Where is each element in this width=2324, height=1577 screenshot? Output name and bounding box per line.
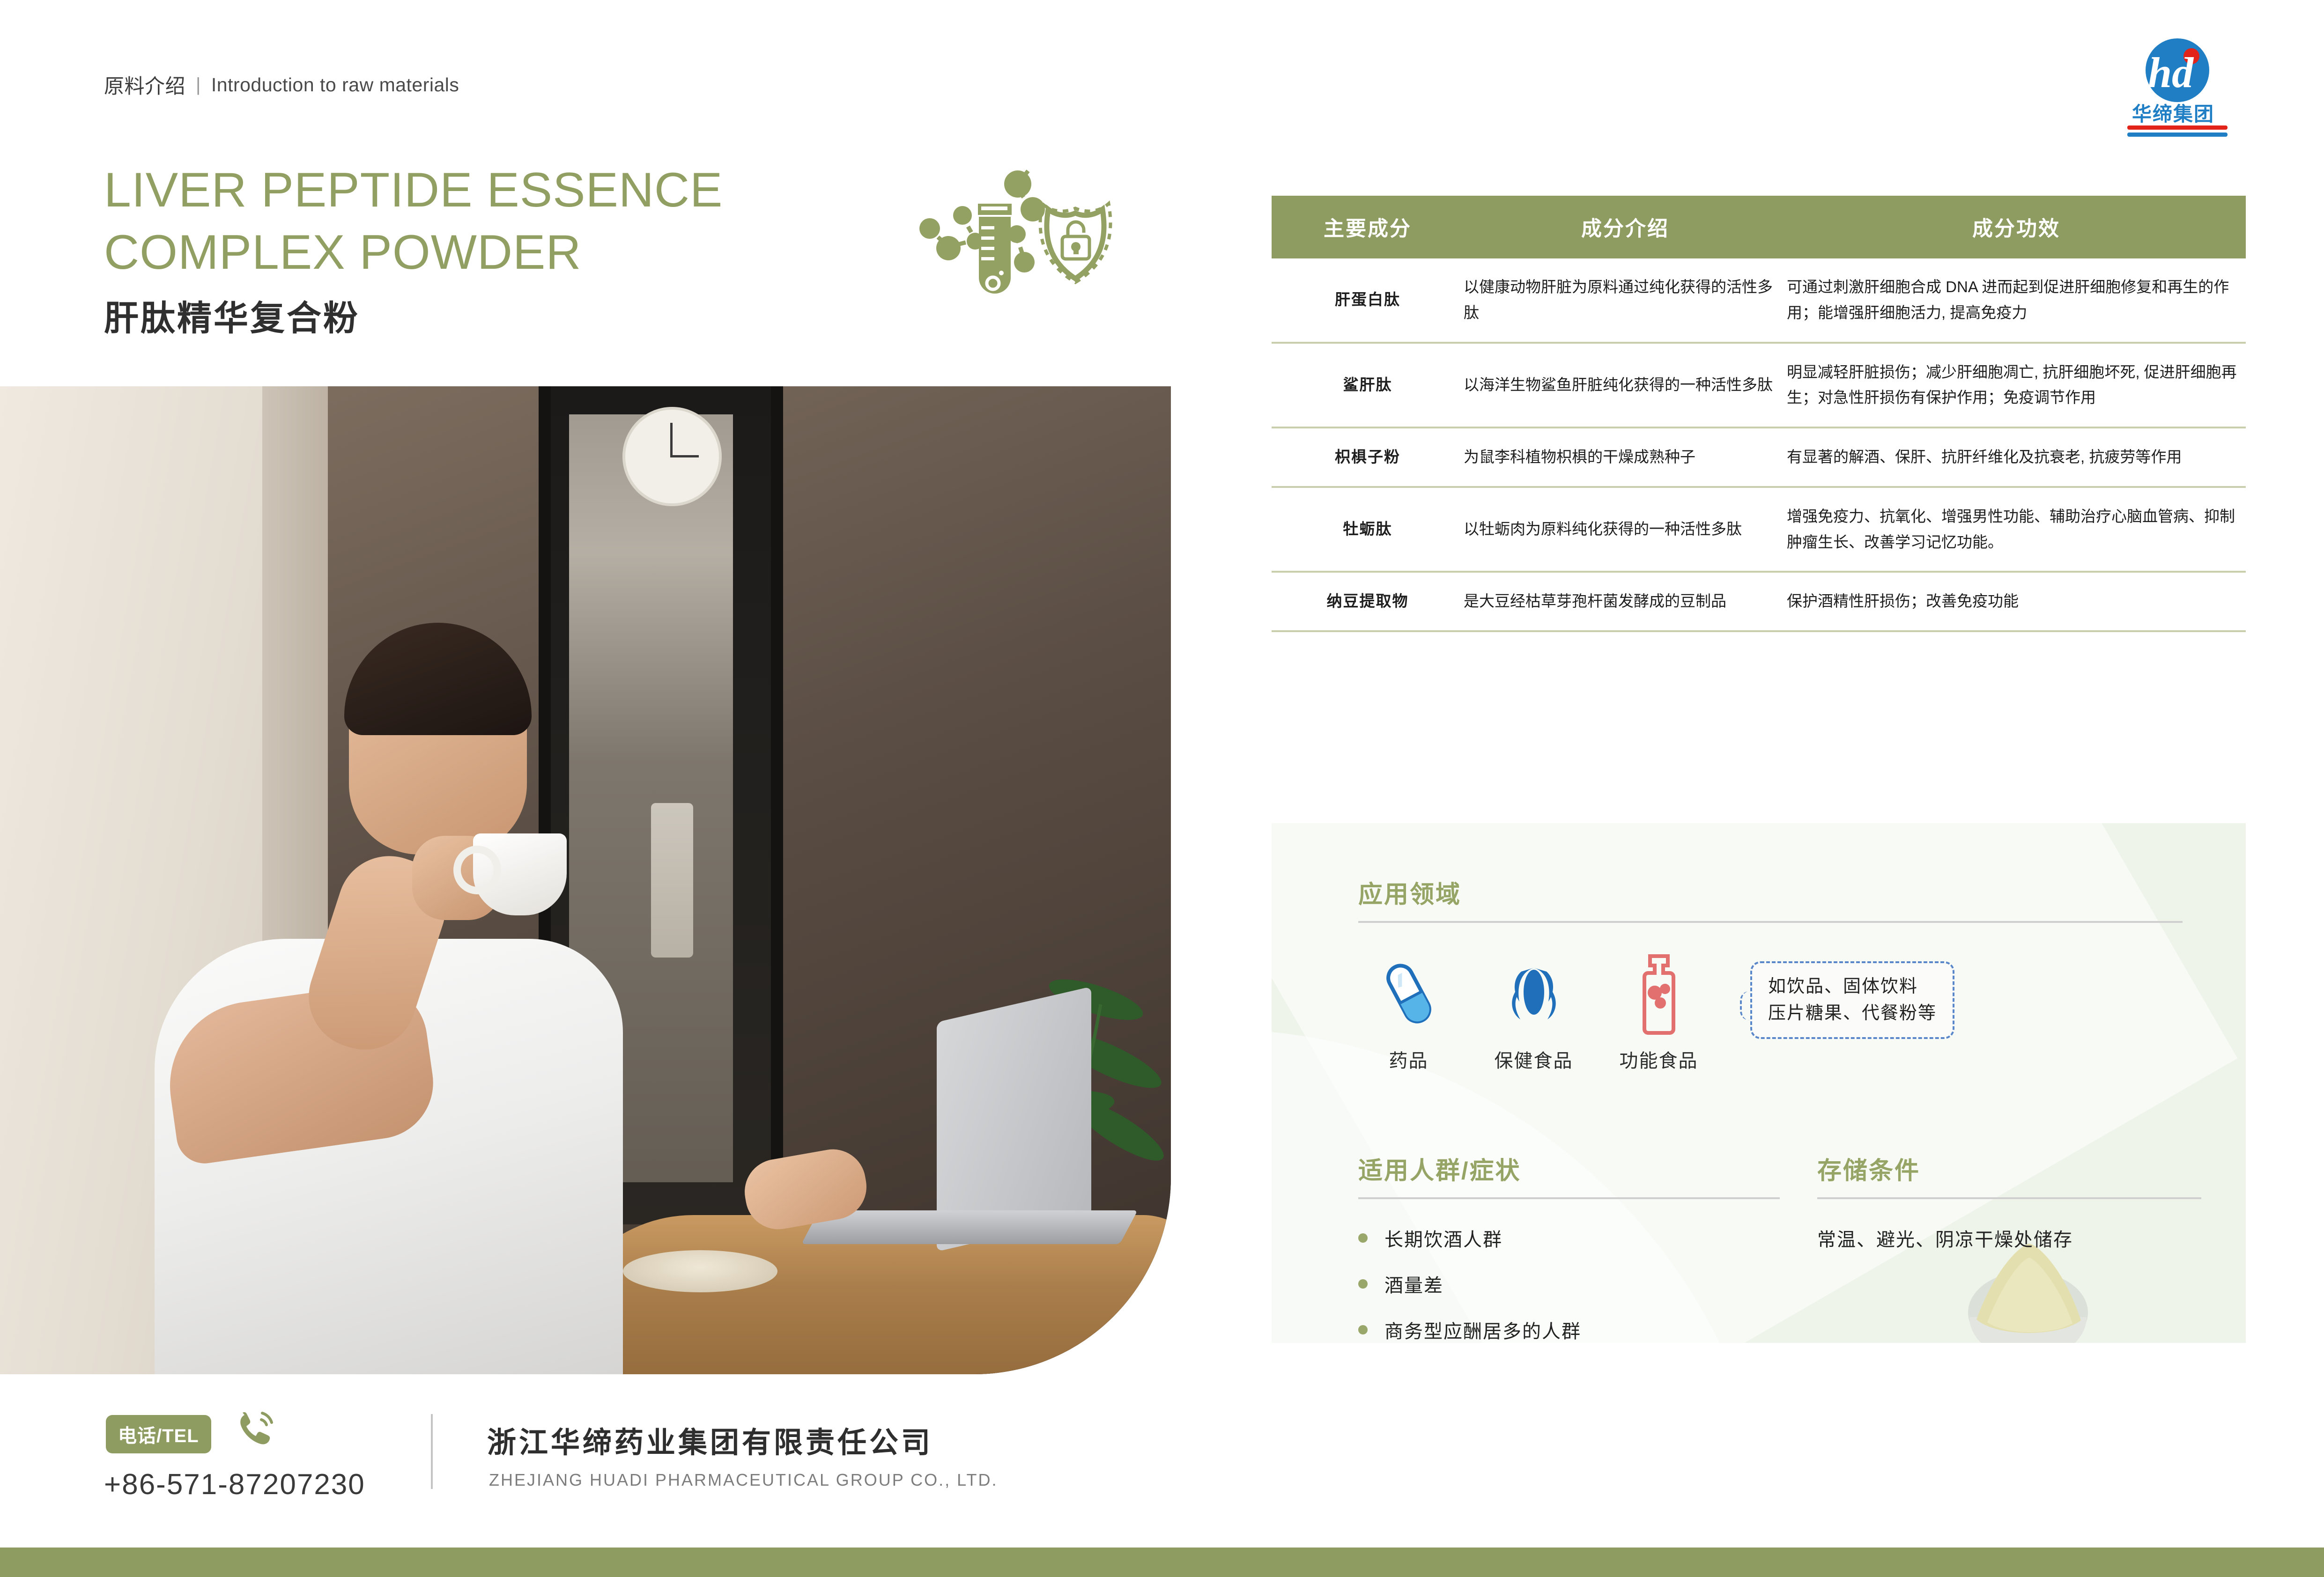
ingredient-table: 主要成分 成分介绍 成分功效 肝蛋白肽 以健康动物肝脏为原料通过纯化获得的活性多… <box>1272 196 2246 632</box>
application-note-line2: 压片糖果、代餐粉等 <box>1768 1000 1937 1027</box>
cell-ingredient-effect: 保护酒精性肝损伤；改善免疫功能 <box>1787 572 2246 631</box>
application-section-title: 应用领域 <box>1358 875 2183 910</box>
storage-section-title: 存储条件 <box>1817 1151 2201 1186</box>
page-title-line1: LIVER PEPTIDE ESSENCE <box>104 159 723 221</box>
vial-icon <box>1608 954 1709 1033</box>
suitable-item-label: 酒量差 <box>1384 1270 1443 1297</box>
cell-ingredient-effect: 有显著的解酒、保肝、抗肝纤维化及抗衰老, 抗疲劳等作用 <box>1787 427 2246 487</box>
capsule-icon <box>1358 954 1459 1033</box>
application-section: 应用领域 药品 <box>1358 875 2183 1073</box>
cell-ingredient-name: 肝蛋白肽 <box>1272 258 1464 343</box>
wall-clock <box>625 410 719 503</box>
page-title-english: LIVER PEPTIDE ESSENCE COMPLEX POWDER <box>104 159 723 284</box>
bullet-dot-icon <box>1358 1279 1368 1289</box>
table-header-effect: 成分功效 <box>1787 196 2246 258</box>
footer: 电话/TEL +86-571-87207230 浙江华缔药业集团有限责任公司 Z… <box>0 1386 2324 1526</box>
footer-divider <box>431 1414 433 1489</box>
cell-ingredient-desc: 是大豆经枯草芽孢杆菌发酵成的豆制品 <box>1464 572 1787 631</box>
coffee-cup <box>473 833 567 915</box>
page-title-chinese: 肝肽精华复合粉 <box>104 290 360 340</box>
breadcrumb: 原料介绍 | Introduction to raw materials <box>104 70 459 99</box>
logo-monogram-text: hd <box>2148 49 2194 96</box>
bullet-dot-icon <box>1358 1325 1368 1334</box>
suitable-section: 适用人群/症状 长期饮酒人群 酒量差 商务型应酬居多的人群 <box>1358 1151 1780 1343</box>
cell-ingredient-desc: 以健康动物肝脏为原料通过纯化获得的活性多肽 <box>1464 258 1787 343</box>
table-row: 牡蛎肽 以牡蛎肉为原料纯化获得的一种活性多肽 增强免疫力、抗氧化、增强男性功能、… <box>1272 487 2246 572</box>
storage-section: 存储条件 常温、避光、阴凉干燥处储存 <box>1817 1151 2201 1343</box>
application-item-health-food: 保健食品 <box>1483 954 1584 1073</box>
storage-divider <box>1817 1197 2201 1199</box>
application-label: 功能食品 <box>1608 1046 1709 1073</box>
page-title-line2: COMPLEX POWDER <box>104 221 723 284</box>
storage-text: 常温、避光、阴凉干燥处储存 <box>1817 1224 2201 1252</box>
tel-number[interactable]: +86-571-87207230 <box>104 1468 365 1501</box>
cell-ingredient-name: 纳豆提取物 <box>1272 572 1464 631</box>
tel-badge: 电话/TEL <box>106 1415 211 1453</box>
application-item-functional-food: 功能食品 <box>1608 954 1709 1073</box>
list-item: 酒量差 <box>1358 1270 1780 1297</box>
hero-photo: 示意图 <box>0 386 1171 1374</box>
company-logo: hd 华缔集团 <box>2114 37 2241 139</box>
table-header-row: 主要成分 成分介绍 成分功效 <box>1272 196 2246 258</box>
info-panel: 应用领域 药品 <box>1272 823 2246 1343</box>
table-header-ingredient: 主要成分 <box>1272 196 1464 258</box>
table-row: 肝蛋白肽 以健康动物肝脏为原料通过纯化获得的活性多肽 可通过刺激肝细胞合成 DN… <box>1272 258 2246 343</box>
suitable-divider <box>1358 1197 1780 1199</box>
brochure-page: 原料介绍 | Introduction to raw materials LIV… <box>0 0 2324 1577</box>
test-tube-molecule-shield-icon <box>916 166 1112 302</box>
cell-ingredient-name: 鲨肝肽 <box>1272 343 1464 428</box>
cell-ingredient-effect: 增强免疫力、抗氧化、增强男性功能、辅助治疗心脑血管病、抑制肿瘤生长、改善学习记忆… <box>1787 487 2246 572</box>
breadcrumb-en: Introduction to raw materials <box>211 74 459 96</box>
suitable-section-title: 适用人群/症状 <box>1358 1151 1780 1186</box>
cell-ingredient-name: 牡蛎肽 <box>1272 487 1464 572</box>
bottom-green-bar <box>0 1548 2324 1577</box>
breadcrumb-separator: | <box>196 74 201 96</box>
cell-ingredient-desc: 以牡蛎肉为原料纯化获得的一种活性多肽 <box>1464 487 1787 572</box>
list-item: 长期饮酒人群 <box>1358 1224 1780 1252</box>
table-header-description: 成分介绍 <box>1464 196 1787 258</box>
suitable-item-label: 商务型应酬居多的人群 <box>1384 1316 1581 1343</box>
application-label: 药品 <box>1358 1046 1459 1073</box>
application-item-drug: 药品 <box>1358 954 1459 1073</box>
cell-ingredient-effect: 明显减轻肝脏损伤；减少肝细胞凋亡, 抗肝细胞坏死, 促进肝细胞再生；对急性肝损伤… <box>1787 343 2246 428</box>
breadcrumb-cn: 原料介绍 <box>104 70 185 99</box>
company-name-en: ZHEJIANG HUADI PHARMACEUTICAL GROUP CO.,… <box>489 1470 998 1490</box>
table-row: 枳椇子粉 为鼠李科植物枳椇的干燥成熟种子 有显著的解酒、保肝、抗肝纤维化及抗衰老… <box>1272 427 2246 487</box>
suitable-item-label: 长期饮酒人群 <box>1384 1224 1502 1252</box>
phone-icon <box>234 1408 274 1449</box>
application-label: 保健食品 <box>1483 1046 1584 1073</box>
company-name-cn: 浙江华缔药业集团有限责任公司 <box>487 1419 933 1461</box>
lower-sections: 适用人群/症状 长期饮酒人群 酒量差 商务型应酬居多的人群 <box>1358 1151 2201 1343</box>
ingredient-table-wrap: 主要成分 成分介绍 成分功效 肝蛋白肽 以健康动物肝脏为原料通过纯化获得的活性多… <box>1272 196 2246 632</box>
list-item: 商务型应酬居多的人群 <box>1358 1316 1780 1343</box>
health-food-icon <box>1483 954 1584 1033</box>
application-note-bubble: 如饮品、固体饮料 压片糖果、代餐粉等 <box>1750 961 1954 1039</box>
cell-ingredient-effect: 可通过刺激肝细胞合成 DNA 进而起到促进肝细胞修复和再生的作用；能增强肝细胞活… <box>1787 258 2246 343</box>
cell-ingredient-name: 枳椇子粉 <box>1272 427 1464 487</box>
cell-ingredient-desc: 以海洋生物鲨鱼肝脏纯化获得的一种活性多肽 <box>1464 343 1787 428</box>
bullet-dot-icon <box>1358 1233 1368 1243</box>
cell-ingredient-desc: 为鼠李科植物枳椇的干燥成熟种子 <box>1464 427 1787 487</box>
table-row: 纳豆提取物 是大豆经枯草芽孢杆菌发酵成的豆制品 保护酒精性肝损伤；改善免疫功能 <box>1272 572 2246 631</box>
table-row: 鲨肝肽 以海洋生物鲨鱼肝脏纯化获得的一种活性多肽 明显减轻肝脏损伤；减少肝细胞凋… <box>1272 343 2246 428</box>
logo-company-text: 华缔集团 <box>2132 103 2214 125</box>
application-divider <box>1358 921 2183 923</box>
application-note-line1: 如饮品、固体饮料 <box>1768 973 1937 1000</box>
